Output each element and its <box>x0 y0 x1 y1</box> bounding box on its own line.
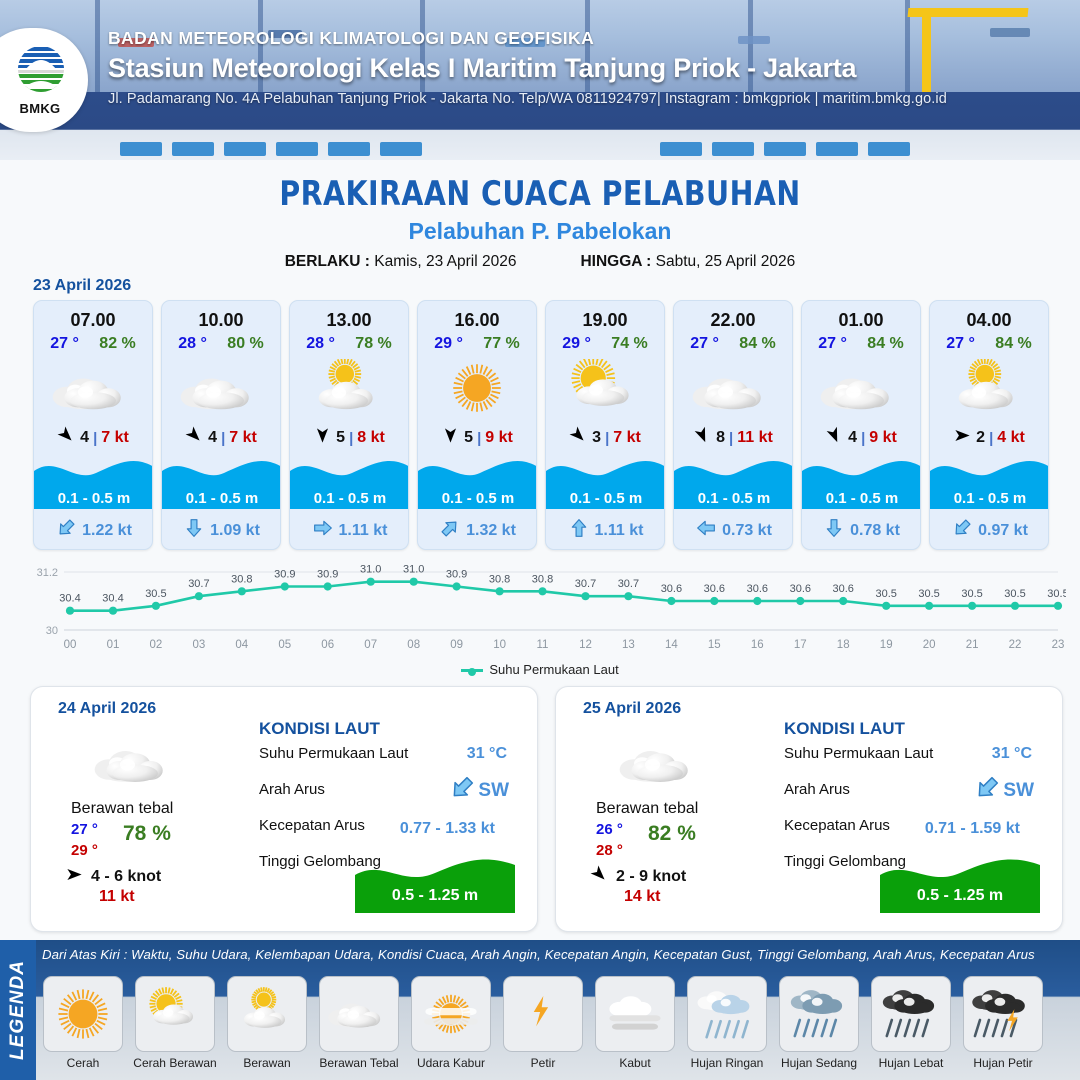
legend-item-label: Cerah <box>67 1056 100 1070</box>
card-temperature: 27 ° <box>818 335 847 353</box>
svg-text:22: 22 <box>1009 639 1022 651</box>
current-speed: 0.73 kt <box>722 522 772 540</box>
card-wind-row: 2 | 4 kt <box>930 426 1048 450</box>
sea-condition-title: KONDISI LAUT <box>259 719 380 739</box>
cerah-icon <box>418 357 536 419</box>
card-humidity: 80 % <box>227 335 263 353</box>
card-time: 22.00 <box>674 310 792 331</box>
current-direction-icon <box>313 518 333 543</box>
card-time: 13.00 <box>290 310 408 331</box>
hujan-lebat-icon <box>871 976 951 1052</box>
legend-item-label: Cerah Berawan <box>133 1056 216 1070</box>
card-wind-row: 8 | 11 kt <box>674 426 792 450</box>
svg-text:30.6: 30.6 <box>661 583 682 595</box>
wind-separator: | <box>93 430 97 447</box>
berawan-tebal-icon <box>618 731 702 796</box>
card-temperature: 29 ° <box>562 335 591 353</box>
forecast-card: 16.00 29 ° 77 % 5 | 9 kt 0.1 - 0.5 m <box>417 300 537 550</box>
wave-height: 0.1 - 0.5 m <box>34 490 153 507</box>
wind-direction-icon <box>57 426 76 450</box>
card-wind-row: 4 | 7 kt <box>34 426 152 450</box>
card-current-row: 0.78 kt <box>802 518 921 543</box>
wind-separator: | <box>989 430 993 447</box>
current-speed: 1.11 kt <box>339 522 388 540</box>
gust-speed: 9 kt <box>869 429 897 447</box>
wind-direction-icon <box>569 426 588 450</box>
svg-text:09: 09 <box>450 639 463 651</box>
svg-text:30.8: 30.8 <box>532 573 553 585</box>
svg-text:30.9: 30.9 <box>317 569 338 581</box>
current-direction-icon <box>952 518 972 543</box>
legend-item: Cerah Berawan <box>132 976 218 1076</box>
kabut-icon <box>595 976 675 1052</box>
current-direction-icon <box>569 518 589 543</box>
berlaku-label: BERLAKU : <box>285 253 370 270</box>
panel-gust: 14 kt <box>624 888 660 906</box>
panel-wave-height: 0.5 - 1.25 m <box>880 887 1040 905</box>
wind-direction-icon <box>825 426 844 450</box>
legend-item-label: Berawan Tebal <box>319 1056 398 1070</box>
panel-condition: Berawan tebal <box>71 800 173 818</box>
legend-item-list: Cerah Cerah Berawan Berawan <box>40 976 1046 1076</box>
svg-text:30.5: 30.5 <box>961 588 982 600</box>
panel-wind-row: 2 - 9 knot <box>590 865 686 889</box>
panel-gust: 11 kt <box>99 888 135 906</box>
legend-item: Berawan Tebal <box>316 976 402 1076</box>
berawan-tebal-icon <box>34 357 152 419</box>
current-direction-icon <box>449 775 475 806</box>
contact-line: Jl. Padamarang No. 4A Pelabuhan Tanjung … <box>108 91 947 107</box>
svg-text:30.9: 30.9 <box>274 569 295 581</box>
forecast-card: 07.00 27 ° 82 % 4 | <box>33 300 153 550</box>
svg-text:30.9: 30.9 <box>446 569 467 581</box>
svg-text:06: 06 <box>321 639 334 651</box>
gust-speed: 8 kt <box>357 429 385 447</box>
berlaku-value: Kamis, 23 April 2026 <box>374 253 516 270</box>
panel-current-direction: SW <box>449 775 509 806</box>
legend-item: Udara Kabur <box>408 976 494 1076</box>
panel-temp-max: 29 ° <box>71 842 98 859</box>
current-speed: 1.32 kt <box>466 522 516 540</box>
card-temperature: 27 ° <box>946 335 975 353</box>
svg-text:30.5: 30.5 <box>1004 588 1025 600</box>
card-humidity: 74 % <box>611 335 647 353</box>
card-time: 07.00 <box>34 310 152 331</box>
card-wind-row: 5 | 8 kt <box>290 426 408 450</box>
card-current-row: 1.32 kt <box>418 518 537 543</box>
card-humidity: 78 % <box>355 335 391 353</box>
panel-date: 24 April 2026 <box>58 700 156 718</box>
legend-item-label: Hujan Petir <box>973 1056 1032 1070</box>
panel-condition: Berawan tebal <box>596 800 698 818</box>
legend-item-label: Udara Kabur <box>417 1056 485 1070</box>
current-direction-icon <box>184 518 204 543</box>
cerah-icon <box>43 976 123 1052</box>
sea-condition-title: KONDISI LAUT <box>784 719 905 739</box>
card-wind-row: 3 | 7 kt <box>546 426 664 450</box>
wind-separator: | <box>477 430 481 447</box>
legend-item-label: Hujan Sedang <box>781 1056 857 1070</box>
hujan-ringan-icon <box>687 976 767 1052</box>
svg-text:30.5: 30.5 <box>1047 588 1066 600</box>
svg-text:31.2: 31.2 <box>37 567 58 579</box>
panel-date: 25 April 2026 <box>583 700 681 718</box>
forecast-card: 22.00 27 ° 84 % 8 | <box>673 300 793 550</box>
hingga-value: Sabtu, 25 April 2026 <box>656 253 796 270</box>
current-direction-icon <box>440 518 460 543</box>
wind-direction-icon <box>693 426 712 450</box>
current-direction-icon <box>974 775 1000 806</box>
wind-separator: | <box>221 430 225 447</box>
forecast-card: 19.00 29 ° 74 % 3 | 7 kt <box>545 300 665 550</box>
legend-section: LEGENDA Dari Atas Kiri : Waktu, Suhu Uda… <box>0 940 1080 1080</box>
wind-speed: 5 <box>464 429 473 447</box>
svg-text:08: 08 <box>407 639 420 651</box>
panel-current-speed: 0.77 - 1.33 kt <box>400 820 495 838</box>
svg-text:30.4: 30.4 <box>59 593 80 605</box>
svg-text:31.0: 31.0 <box>403 564 424 576</box>
svg-text:12: 12 <box>579 639 592 651</box>
card-temperature: 27 ° <box>690 335 719 353</box>
panel-sst-value: 31 °C <box>467 745 507 763</box>
svg-text:30.6: 30.6 <box>747 583 768 595</box>
card-humidity: 84 % <box>739 335 775 353</box>
wave-height: 0.1 - 0.5 m <box>674 490 793 507</box>
svg-text:30.5: 30.5 <box>145 588 166 600</box>
daily-forecast-panel: 24 April 2026 Berawan tebal 27 ° 29 ° 78… <box>30 686 538 932</box>
svg-text:30.5: 30.5 <box>918 588 939 600</box>
panel-temp-max: 28 ° <box>596 842 623 859</box>
wind-direction-icon <box>65 865 84 889</box>
card-time: 19.00 <box>546 310 664 331</box>
berawan-icon <box>290 357 408 419</box>
svg-text:30.6: 30.6 <box>832 583 853 595</box>
card-wind-row: 4 | 9 kt <box>802 426 920 450</box>
svg-text:00: 00 <box>64 639 77 651</box>
card-current-row: 0.73 kt <box>674 518 793 543</box>
card-current-row: 1.09 kt <box>162 518 281 543</box>
svg-text:23: 23 <box>1052 639 1065 651</box>
legend-item: Hujan Lebat <box>868 976 954 1076</box>
svg-text:07: 07 <box>364 639 377 651</box>
wave-height: 0.1 - 0.5 m <box>930 490 1049 507</box>
card-humidity: 84 % <box>995 335 1031 353</box>
svg-text:19: 19 <box>880 639 893 651</box>
wave-height: 0.1 - 0.5 m <box>418 490 537 507</box>
legend-item-label: Kabut <box>619 1056 650 1070</box>
card-current-row: 0.97 kt <box>930 518 1049 543</box>
panel-humidity: 82 % <box>648 822 696 846</box>
legend-note: Dari Atas Kiri : Waktu, Suhu Udara, Kele… <box>42 947 1035 962</box>
svg-text:15: 15 <box>708 639 721 651</box>
gust-speed: 7 kt <box>613 429 641 447</box>
wind-speed: 4 <box>80 429 89 447</box>
port-subtitle: Pelabuhan P. Pabelokan <box>0 218 1080 245</box>
wave-height: 0.1 - 0.5 m <box>290 490 409 507</box>
wind-separator: | <box>729 430 733 447</box>
svg-text:02: 02 <box>150 639 163 651</box>
legend-item: Cerah <box>40 976 126 1076</box>
card-current-row: 1.22 kt <box>34 518 153 543</box>
wind-speed: 5 <box>336 429 345 447</box>
svg-text:30.6: 30.6 <box>704 583 725 595</box>
panel-current-speed: 0.71 - 1.59 kt <box>925 820 1020 838</box>
wind-speed: 8 <box>716 429 725 447</box>
card-time: 10.00 <box>162 310 280 331</box>
berawan-icon <box>227 976 307 1052</box>
gust-speed: 7 kt <box>101 429 129 447</box>
panel-current-dir-label: SW <box>1003 780 1034 802</box>
wind-speed: 3 <box>592 429 601 447</box>
forecast-date-label: 23 April 2026 <box>33 277 131 295</box>
panel-temp-min: 26 ° <box>596 821 623 838</box>
svg-text:30.7: 30.7 <box>618 578 639 590</box>
forecast-card: 04.00 27 ° 84 % 2 | 4 kt <box>929 300 1049 550</box>
hingga-label: HINGGA : <box>580 253 651 270</box>
panel-current-dir-label: SW <box>478 780 509 802</box>
svg-text:30.4: 30.4 <box>102 593 123 605</box>
card-wind-row: 5 | 9 kt <box>418 426 536 450</box>
panel-wind-range: 4 - 6 knot <box>91 868 161 886</box>
berawan-tebal-icon <box>802 357 920 419</box>
page-title: PRAKIRAAN CUACA PELABUHAN <box>38 174 1042 214</box>
svg-text:03: 03 <box>193 639 206 651</box>
hujan-sedang-icon <box>779 976 859 1052</box>
panel-wind-range: 2 - 9 knot <box>616 868 686 886</box>
legend-item: Berawan <box>224 976 310 1076</box>
hujan-petir-icon <box>963 976 1043 1052</box>
wave-height: 0.1 - 0.5 m <box>546 490 665 507</box>
card-time: 04.00 <box>930 310 1048 331</box>
current-direction-icon <box>56 518 76 543</box>
svg-text:13: 13 <box>622 639 635 651</box>
svg-text:05: 05 <box>278 639 291 651</box>
wind-direction-icon <box>185 426 204 450</box>
udara-kabur-icon <box>411 976 491 1052</box>
svg-text:18: 18 <box>837 639 850 651</box>
panel-wave-height: 0.5 - 1.25 m <box>355 887 515 905</box>
title-section: PRAKIRAAN CUACA PELABUHAN Pelabuhan P. P… <box>0 160 1080 271</box>
forecast-card: 01.00 27 ° 84 % 4 | <box>801 300 921 550</box>
station-name: Stasiun Meteorologi Kelas I Maritim Tanj… <box>108 53 947 84</box>
svg-text:10: 10 <box>493 639 506 651</box>
legend-item: Hujan Sedang <box>776 976 862 1076</box>
legend-item: Hujan Ringan <box>684 976 770 1076</box>
svg-text:20: 20 <box>923 639 936 651</box>
waiting-seats <box>120 142 422 156</box>
gust-speed: 9 kt <box>485 429 513 447</box>
panel-temp-min: 27 ° <box>71 821 98 838</box>
wind-speed: 4 <box>208 429 217 447</box>
legend-item-label: Petir <box>531 1056 556 1070</box>
legend-item: Petir <box>500 976 586 1076</box>
card-time: 16.00 <box>418 310 536 331</box>
wave-height: 0.1 - 0.5 m <box>802 490 921 507</box>
svg-text:30: 30 <box>46 625 58 637</box>
svg-text:04: 04 <box>235 639 248 651</box>
page-header: BMKG BADAN METEOROLOGI KLIMATOLOGI DAN G… <box>0 0 1080 160</box>
hourly-forecast-list: 07.00 27 ° 82 % 4 | <box>33 300 1049 550</box>
svg-text:16: 16 <box>751 639 764 651</box>
panel-current-direction: SW <box>974 775 1034 806</box>
legend-side-tab: LEGENDA <box>0 940 36 1080</box>
wind-direction-icon <box>441 426 460 450</box>
svg-text:30.7: 30.7 <box>188 578 209 590</box>
panel-wind-row: 4 - 6 knot <box>65 865 161 889</box>
chart-legend: Suhu Permukaan Laut <box>0 662 1080 677</box>
svg-text:11: 11 <box>537 639 549 651</box>
card-temperature: 29 ° <box>434 335 463 353</box>
wind-separator: | <box>861 430 865 447</box>
legend-label: Suhu Permukaan Laut <box>489 662 618 677</box>
legend-side-label: LEGENDA <box>7 960 29 1060</box>
svg-text:31.0: 31.0 <box>360 564 381 576</box>
card-temperature: 28 ° <box>178 335 207 353</box>
legend-item-label: Hujan Ringan <box>691 1056 764 1070</box>
wind-separator: | <box>605 430 609 447</box>
current-direction-icon <box>696 518 716 543</box>
panel-sst-value: 31 °C <box>992 745 1032 763</box>
berawan-tebal-icon <box>93 731 177 796</box>
card-temperature: 28 ° <box>306 335 335 353</box>
sst-chart: 31.23030.40030.40130.50230.70330.80430.9… <box>14 558 1066 678</box>
card-humidity: 84 % <box>867 335 903 353</box>
svg-text:30.5: 30.5 <box>875 588 896 600</box>
current-speed: 0.78 kt <box>850 522 900 540</box>
logo-text: BMKG <box>12 101 68 116</box>
gust-speed: 7 kt <box>229 429 257 447</box>
legend-item: Kabut <box>592 976 678 1076</box>
legend-line-marker <box>461 669 483 672</box>
svg-text:30.8: 30.8 <box>489 573 510 585</box>
card-humidity: 77 % <box>483 335 519 353</box>
daily-forecast-panels: 24 April 2026 Berawan tebal 27 ° 29 ° 78… <box>30 686 1063 932</box>
card-wind-row: 4 | 7 kt <box>162 426 280 450</box>
card-temperature: 27 ° <box>50 335 79 353</box>
card-current-row: 1.11 kt <box>290 518 409 543</box>
legend-item: Hujan Petir <box>960 976 1046 1076</box>
svg-text:30.6: 30.6 <box>790 583 811 595</box>
window-mullion <box>95 0 100 92</box>
petir-icon <box>503 976 583 1052</box>
berawan-tebal-icon <box>674 357 792 419</box>
current-speed: 1.09 kt <box>210 522 260 540</box>
wind-separator: | <box>349 430 353 447</box>
wind-direction-icon <box>313 426 332 450</box>
current-speed: 1.22 kt <box>82 522 132 540</box>
current-direction-icon <box>824 518 844 543</box>
validity-row: BERLAKU : Kamis, 23 April 2026 HINGGA : … <box>0 253 1080 271</box>
current-speed: 0.97 kt <box>978 522 1028 540</box>
card-current-row: 1.11 kt <box>546 518 665 543</box>
gust-speed: 11 kt <box>737 429 773 447</box>
panel-humidity: 78 % <box>123 822 171 846</box>
agency-name: BADAN METEOROLOGI KLIMATOLOGI DAN GEOFIS… <box>108 28 947 49</box>
card-humidity: 82 % <box>99 335 135 353</box>
svg-text:30.7: 30.7 <box>575 578 596 590</box>
daily-forecast-panel: 25 April 2026 Berawan tebal 26 ° 28 ° 82… <box>555 686 1063 932</box>
gust-speed: 4 kt <box>997 429 1025 447</box>
cerah-berawan-icon <box>546 357 664 419</box>
berawan-tebal-icon <box>162 357 280 419</box>
wind-direction-icon <box>590 865 609 889</box>
waiting-seats <box>660 142 910 156</box>
cerah-berawan-icon <box>135 976 215 1052</box>
legend-item-label: Hujan Lebat <box>879 1056 944 1070</box>
forecast-card: 13.00 28 ° 78 % 5 | 8 kt <box>289 300 409 550</box>
wave-height: 0.1 - 0.5 m <box>162 490 281 507</box>
legend-item-label: Berawan <box>243 1056 290 1070</box>
svg-text:21: 21 <box>966 639 979 651</box>
svg-text:30.8: 30.8 <box>231 573 252 585</box>
current-speed: 1.11 kt <box>595 522 644 540</box>
svg-text:17: 17 <box>794 639 807 651</box>
svg-text:14: 14 <box>665 639 678 651</box>
berawan-tebal-icon <box>319 976 399 1052</box>
wind-speed: 4 <box>848 429 857 447</box>
berawan-icon <box>930 357 1048 419</box>
wind-speed: 2 <box>976 429 985 447</box>
bmkg-emblem-icon <box>12 45 70 95</box>
forecast-card: 10.00 28 ° 80 % 4 | <box>161 300 281 550</box>
card-time: 01.00 <box>802 310 920 331</box>
svg-text:01: 01 <box>107 639 120 651</box>
wind-direction-icon <box>953 426 972 450</box>
